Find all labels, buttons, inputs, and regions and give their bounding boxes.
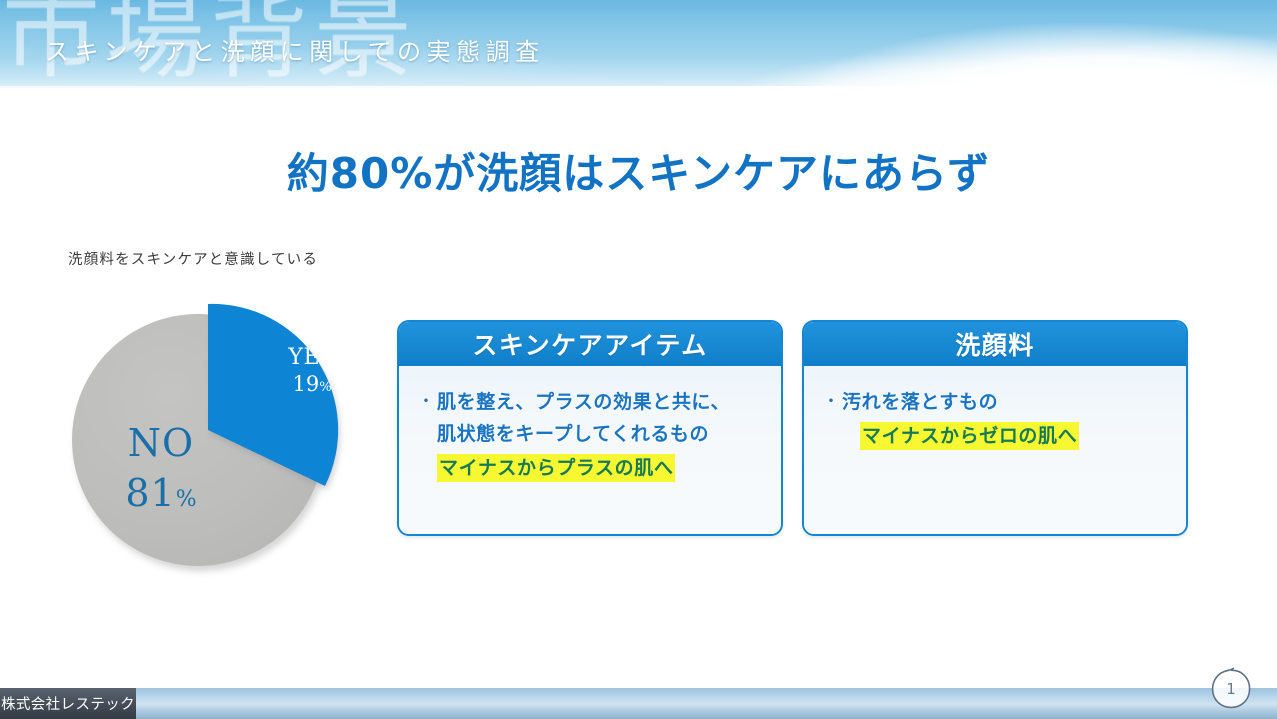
bullet-marker-icon: ・ bbox=[415, 386, 437, 418]
pie-label-yes-unit: % bbox=[319, 380, 331, 395]
card-cleanser-highlight: マイナスからゼロの肌へ bbox=[860, 422, 1079, 450]
pie-chart: NO 81% YES 19% bbox=[60, 284, 380, 574]
pie-label-no-unit: % bbox=[176, 487, 197, 512]
page-title: 約80%が洗顔はスキンケアにあらず bbox=[0, 140, 1277, 201]
card-cleanser: 洗顔料 ・ 汚れを落とすもの マイナスからゼロの肌へ bbox=[802, 320, 1188, 536]
pie-label-no-value: 81 bbox=[125, 471, 175, 515]
pie-label-yes-value: 19 bbox=[292, 372, 319, 396]
footer-company-name: 株式会社レステック bbox=[0, 688, 136, 719]
card-cleanser-title: 洗顔料 bbox=[804, 322, 1186, 366]
slide-header-title: スキンケアと洗顔に関しての実態調査 bbox=[45, 32, 545, 67]
card-cleanser-line-1: 汚れを落とすもの bbox=[842, 386, 1170, 418]
pie-label-yes-name: YES bbox=[257, 346, 367, 369]
pie-label-yes: YES 19% bbox=[257, 346, 367, 395]
card-skincare-highlight: マイナスからプラスの肌へ bbox=[437, 454, 675, 482]
header-underline bbox=[0, 86, 1277, 88]
card-cleanser-body: ・ 汚れを落とすもの マイナスからゼロの肌へ bbox=[804, 366, 1186, 536]
footer-bar bbox=[0, 688, 1277, 719]
pie-label-no: NO 81% bbox=[86, 424, 236, 512]
page-number-badge: 1 bbox=[1209, 667, 1253, 711]
pie-chart-caption: 洗顔料をスキンケアと意識している bbox=[68, 248, 318, 269]
page-number-value: 1 bbox=[1209, 667, 1253, 711]
card-skincare-line-1: 肌を整え、プラスの効果と共に、 bbox=[437, 386, 765, 418]
header-banner: 市場背景 スキンケアと洗顔に関しての実態調査 bbox=[0, 0, 1277, 88]
bullet-marker-icon: ・ bbox=[820, 386, 842, 418]
card-skincare-line-2: 肌状態をキープしてくれるもの bbox=[437, 418, 765, 450]
pie-label-no-name: NO bbox=[86, 424, 236, 462]
card-skincare-body: ・ 肌を整え、プラスの効果と共に、 肌状態をキープしてくれるもの マイナスからプ… bbox=[399, 366, 781, 536]
card-skincare-title: スキンケアアイテム bbox=[399, 322, 781, 366]
pie-chart-block: 洗顔料をスキンケアと意識している NO 81% YES 19% bbox=[60, 248, 390, 568]
card-skincare: スキンケアアイテム ・ 肌を整え、プラスの効果と共に、 肌状態をキープしてくれる… bbox=[397, 320, 783, 536]
